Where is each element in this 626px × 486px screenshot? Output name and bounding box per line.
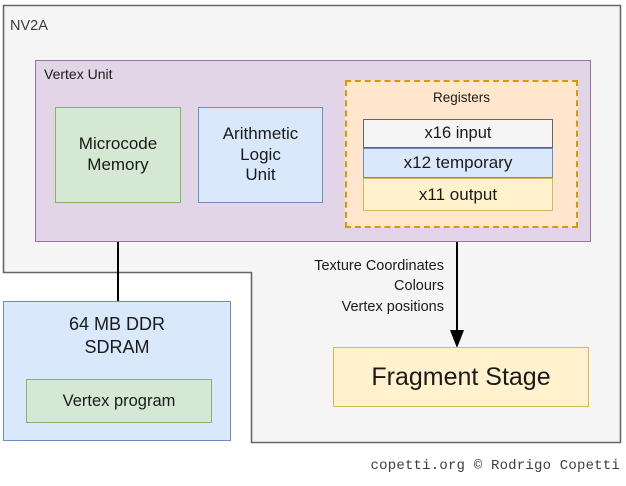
alu-label-line3: Unit (223, 165, 299, 186)
microcode-memory-label-line2: Memory (79, 155, 157, 176)
arithmetic-logic-unit-block[interactable]: Arithmetic Logic Unit (198, 107, 323, 203)
flow-label-colours: Colours (244, 276, 444, 296)
sdram-title-line2: SDRAM (3, 336, 231, 359)
register-row-output[interactable]: x11 output (363, 178, 553, 211)
register-row-output-label: x11 output (419, 185, 497, 205)
flow-label-texture-coordinates: Texture Coordinates (244, 256, 444, 276)
register-row-input[interactable]: x16 input (363, 119, 553, 148)
fragment-stage-label: Fragment Stage (371, 362, 550, 393)
footer-attribution: copetti.org © Rodrigo Copetti (300, 458, 620, 474)
arrow-vertex-to-fragment-head (450, 330, 464, 348)
alu-label-line1: Arithmetic (223, 124, 299, 145)
vertex-program-block[interactable]: Vertex program (26, 379, 212, 423)
microcode-memory-block[interactable]: Microcode Memory (55, 107, 181, 203)
alu-label-line2: Logic (223, 145, 299, 166)
register-row-input-label: x16 input (425, 124, 492, 143)
registers-group-title: Registers (345, 90, 578, 105)
flow-label-vertex-positions: Vertex positions (244, 297, 444, 317)
fragment-stage-block[interactable]: Fragment Stage (333, 347, 589, 407)
sdram-title-line1: 64 MB DDR (3, 313, 231, 336)
diagram-canvas: NV2A Vertex Unit Microcode Memory Arithm… (0, 0, 626, 486)
vertex-output-flow-labels: Texture Coordinates Colours Vertex posit… (244, 256, 444, 317)
vertex-unit-label: Vertex Unit (44, 66, 112, 82)
sdram-title: 64 MB DDR SDRAM (3, 313, 231, 359)
vertex-program-label: Vertex program (63, 391, 176, 411)
microcode-memory-label-line1: Microcode (79, 134, 157, 155)
register-row-temporary-label: x12 temporary (404, 153, 513, 173)
nv2a-label: NV2A (10, 18, 48, 34)
register-row-temporary[interactable]: x12 temporary (363, 148, 553, 178)
